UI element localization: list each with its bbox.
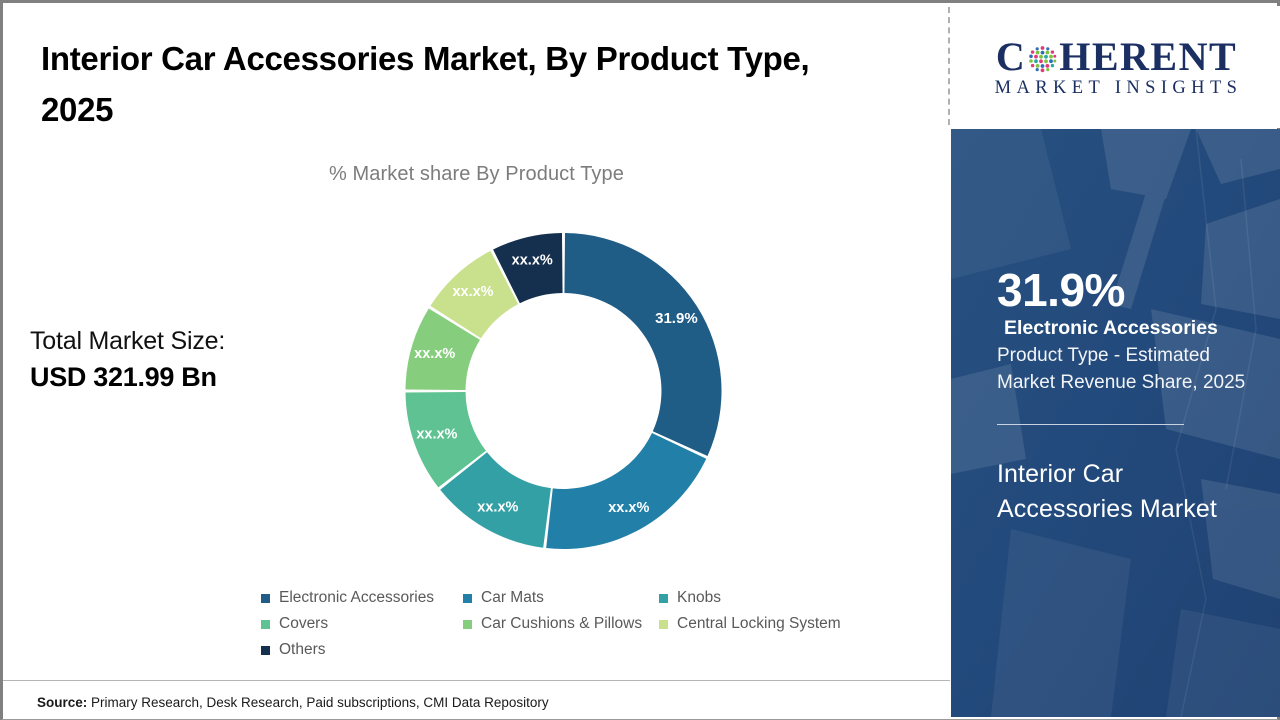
legend-item-label: Others — [279, 641, 326, 659]
total-market-size-block: Total Market Size: USD 321.99 Bn — [30, 325, 320, 395]
sidebar-text-block: 31.9% Electronic Accessories Product Typ… — [997, 267, 1257, 528]
chart-subtitle: % Market share By Product Type — [3, 163, 950, 186]
logo-wordmark: C — [996, 37, 1237, 77]
page-title: Interior Car Accessories Market, By Prod… — [41, 33, 841, 135]
donut-slice[interactable] — [546, 433, 706, 549]
legend-item[interactable]: Covers — [261, 615, 463, 633]
legend-item[interactable]: Others — [261, 641, 463, 659]
sidebar-rule — [997, 424, 1184, 425]
globe-dots-svg — [1027, 44, 1058, 75]
legend-item[interactable]: Central Locking System — [659, 615, 891, 633]
legend-item-label: Central Locking System — [677, 615, 841, 633]
legend-swatch-icon — [261, 646, 270, 655]
globe-dots-icon — [1027, 42, 1058, 73]
donut-slice-label: xx.x% — [452, 284, 493, 300]
sidebar-stat-value: 31.9% — [997, 267, 1257, 314]
legend-item[interactable]: Car Cushions & Pillows — [463, 615, 659, 633]
legend-swatch-icon — [659, 620, 668, 629]
sidebar-market-name: Interior Car Accessories Market — [997, 457, 1257, 529]
legend-grid: Electronic AccessoriesCar MatsKnobsCover… — [261, 589, 891, 659]
legend-item-label: Knobs — [677, 589, 721, 607]
legend-item[interactable]: Knobs — [659, 589, 891, 607]
donut-slice[interactable] — [564, 233, 721, 456]
donut-chart: 31.9%xx.x%xx.x%xx.x%xx.x%xx.x%xx.x% — [401, 221, 726, 561]
sidebar-stat-name: Electronic Accessories — [997, 316, 1257, 340]
donut-slice-label: xx.x% — [414, 346, 455, 362]
legend-item-label: Car Cushions & Pillows — [481, 615, 642, 633]
logo-letters-herent: HERENT — [1059, 37, 1237, 77]
legend-swatch-icon — [463, 620, 472, 629]
source-note: Source: Primary Research, Desk Research,… — [37, 695, 549, 710]
legend-item-label: Car Mats — [481, 589, 544, 607]
source-label: Source: — [37, 695, 87, 710]
vertical-dashed-divider — [948, 7, 950, 125]
legend-item[interactable]: Car Mats — [463, 589, 659, 607]
infographic-page: Interior Car Accessories Market, By Prod… — [0, 0, 1280, 720]
donut-slice-label: xx.x% — [477, 500, 518, 516]
logo-letter-c: C — [996, 37, 1026, 77]
total-market-size-label: Total Market Size: — [30, 325, 320, 359]
donut-slice-label: xx.x% — [416, 427, 457, 443]
total-market-size-value: USD 321.99 Bn — [30, 359, 320, 395]
source-text: Primary Research, Desk Research, Paid su… — [87, 695, 548, 710]
brand-logo: C — [953, 6, 1280, 128]
donut-slice-label: xx.x% — [608, 500, 649, 516]
legend-swatch-icon — [463, 594, 472, 603]
legend-swatch-icon — [261, 594, 270, 603]
main-content-area: Interior Car Accessories Market, By Prod… — [3, 3, 950, 717]
donut-slice-label: 31.9% — [655, 310, 698, 327]
chart-legend: Electronic AccessoriesCar MatsKnobsCover… — [261, 589, 891, 659]
source-divider — [3, 680, 950, 681]
legend-item-label: Covers — [279, 615, 328, 633]
legend-swatch-icon — [261, 620, 270, 629]
legend-item[interactable]: Electronic Accessories — [261, 589, 463, 607]
donut-chart-svg: 31.9%xx.x%xx.x%xx.x%xx.x%xx.x%xx.x% — [401, 221, 726, 561]
sidebar-highlight-panel: 31.9% Electronic Accessories Product Typ… — [951, 129, 1280, 717]
legend-item-label: Electronic Accessories — [279, 589, 434, 607]
legend-swatch-icon — [659, 594, 668, 603]
logo-tagline: MARKET INSIGHTS — [991, 79, 1243, 98]
donut-slice-group — [406, 233, 722, 549]
sidebar-stat-description: Product Type - Estimated Market Revenue … — [997, 343, 1257, 397]
donut-slice-label: xx.x% — [512, 253, 553, 269]
